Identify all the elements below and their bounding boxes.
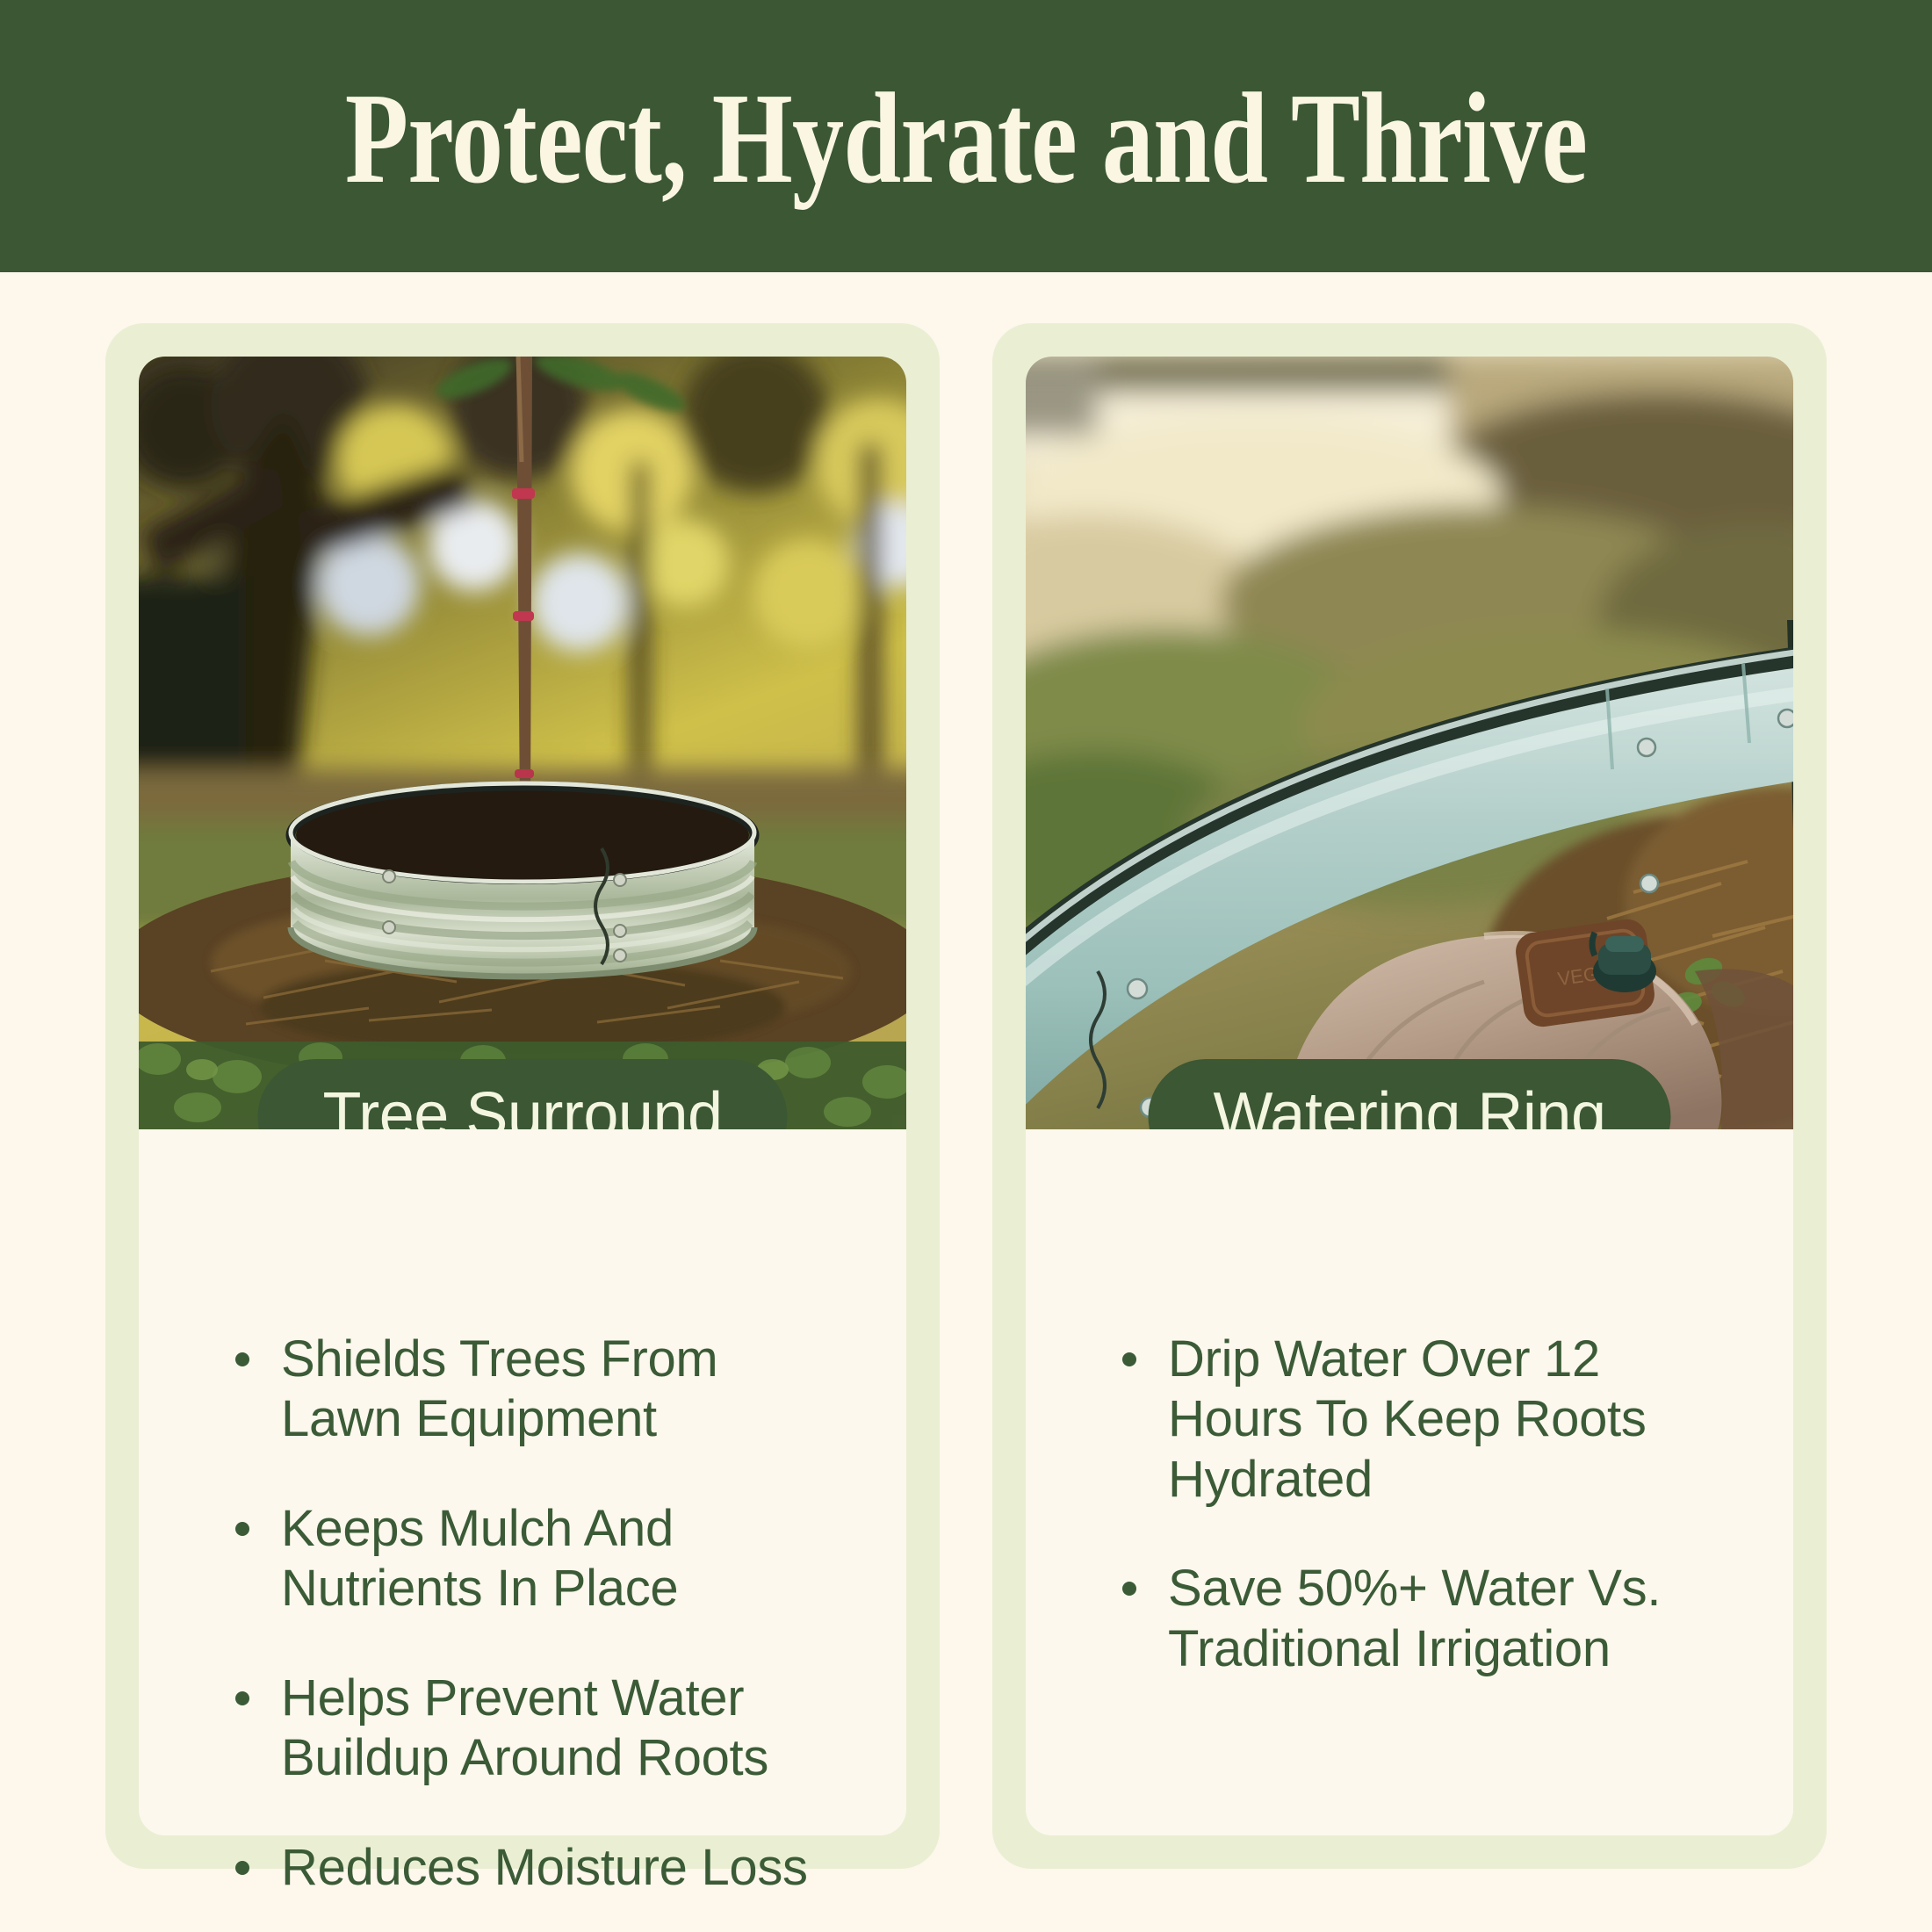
tree-surround-illustration	[139, 357, 906, 1129]
tree-surround-photo: Tree Surround	[139, 357, 906, 1129]
page-header: Protect, Hydrate and Thrive	[0, 0, 1932, 272]
watering-ring-illustration: VEGO	[1026, 357, 1793, 1129]
bullet-dot-icon	[235, 1522, 249, 1536]
card-inner-watering-ring: VEGO Watering Ring Drip	[1026, 357, 1793, 1835]
list-item: Drip Water Over 12 Hours To Keep Roots H…	[1122, 1330, 1732, 1510]
watering-ring-photo: VEGO Watering Ring	[1026, 357, 1793, 1129]
list-item-label: Save 50%+ Water Vs. Traditional Irrigati…	[1168, 1559, 1732, 1679]
bullet-dot-icon	[1122, 1582, 1136, 1596]
feature-list-watering-ring: Drip Water Over 12 Hours To Keep Roots H…	[1026, 1129, 1793, 1835]
list-item-label: Shields Trees From Lawn Equipment	[281, 1330, 845, 1450]
card-label-pill-tree-surround: Tree Surround	[257, 1059, 787, 1129]
bullet-dot-icon	[235, 1352, 249, 1366]
product-card-watering-ring[interactable]: VEGO Watering Ring Drip	[992, 323, 1827, 1869]
bullet-dot-icon	[1122, 1352, 1136, 1366]
feature-list-tree-surround: Shields Trees From Lawn Equipment Keeps …	[139, 1129, 906, 1898]
product-card-tree-surround[interactable]: Tree Surround Shields Trees From Lawn Eq…	[105, 323, 940, 1869]
page-title: Protect, Hydrate and Thrive	[345, 68, 1587, 204]
bullet-dot-icon	[235, 1861, 249, 1875]
list-item: Save 50%+ Water Vs. Traditional Irrigati…	[1122, 1559, 1732, 1679]
list-item-label: Reduces Moisture Loss	[281, 1838, 808, 1898]
card-label-pill-watering-ring: Watering Ring	[1148, 1059, 1670, 1129]
card-inner-tree-surround: Tree Surround Shields Trees From Lawn Eq…	[139, 357, 906, 1835]
list-item: Keeps Mulch And Nutrients In Place	[235, 1499, 845, 1619]
bullet-dot-icon	[235, 1691, 249, 1705]
list-item-label: Keeps Mulch And Nutrients In Place	[281, 1499, 845, 1619]
product-card-grid: Tree Surround Shields Trees From Lawn Eq…	[105, 323, 1827, 1869]
list-item: Shields Trees From Lawn Equipment	[235, 1330, 845, 1450]
list-item-label: Drip Water Over 12 Hours To Keep Roots H…	[1168, 1330, 1732, 1510]
promo-page: Protect, Hydrate and Thrive	[0, 0, 1932, 1932]
list-item: Helps Prevent Water Buildup Around Roots	[235, 1669, 845, 1789]
list-item: Reduces Moisture Loss	[235, 1838, 845, 1898]
list-item-label: Helps Prevent Water Buildup Around Roots	[281, 1669, 845, 1789]
